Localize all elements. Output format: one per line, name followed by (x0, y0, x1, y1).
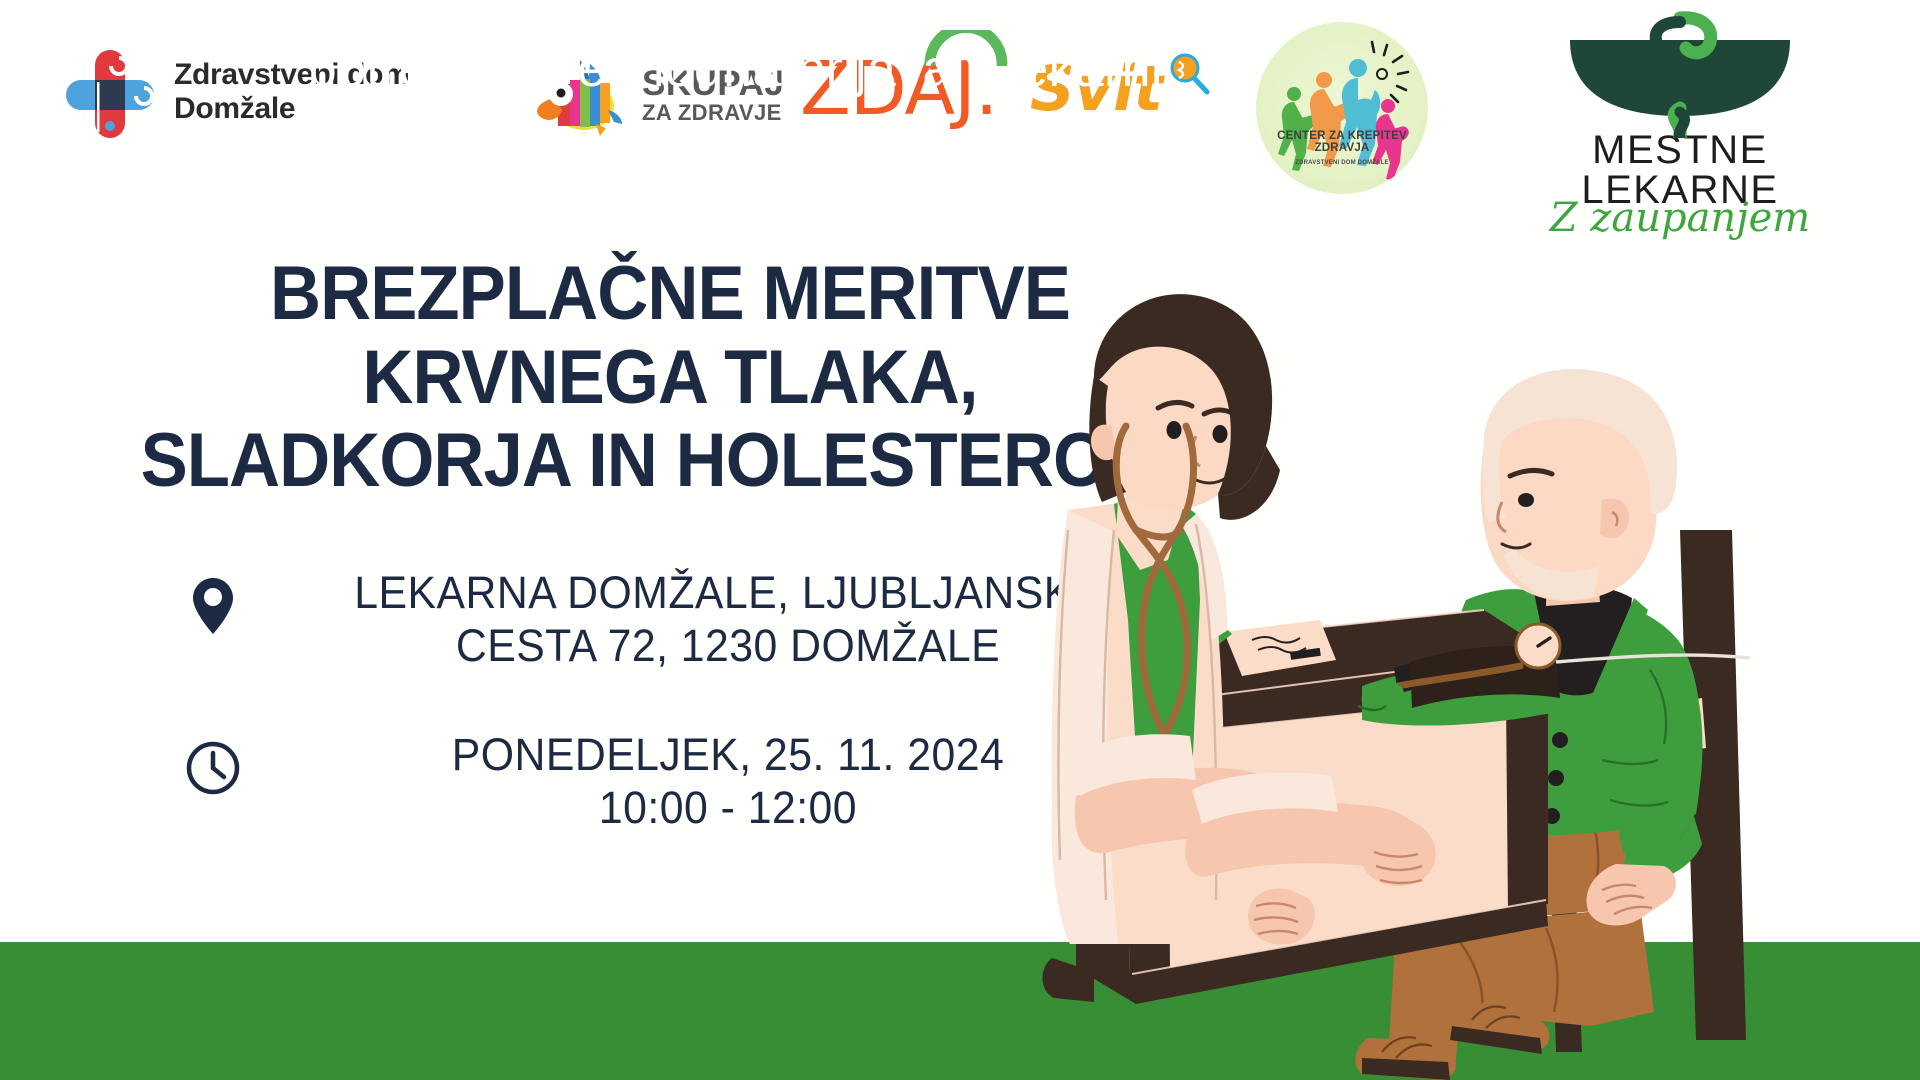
bowl-of-hygieia-icon (1490, 8, 1870, 128)
map-pin-icon (170, 566, 256, 634)
logo-ckz-line2: ZDRAVSTVENI DOM DOMŽALE (1256, 160, 1428, 166)
poster-canvas: Zdravstveni dom Domžale (0, 0, 1920, 1080)
nurse-measuring-blood-pressure-illustration (990, 200, 1920, 1080)
clock-icon (170, 728, 256, 796)
datetime-line-1: PONEDELJEK, 25. 11. 2024 (452, 729, 1004, 780)
footer-note: *potrebna predhodna prijava v lekarni (0, 0, 1450, 138)
